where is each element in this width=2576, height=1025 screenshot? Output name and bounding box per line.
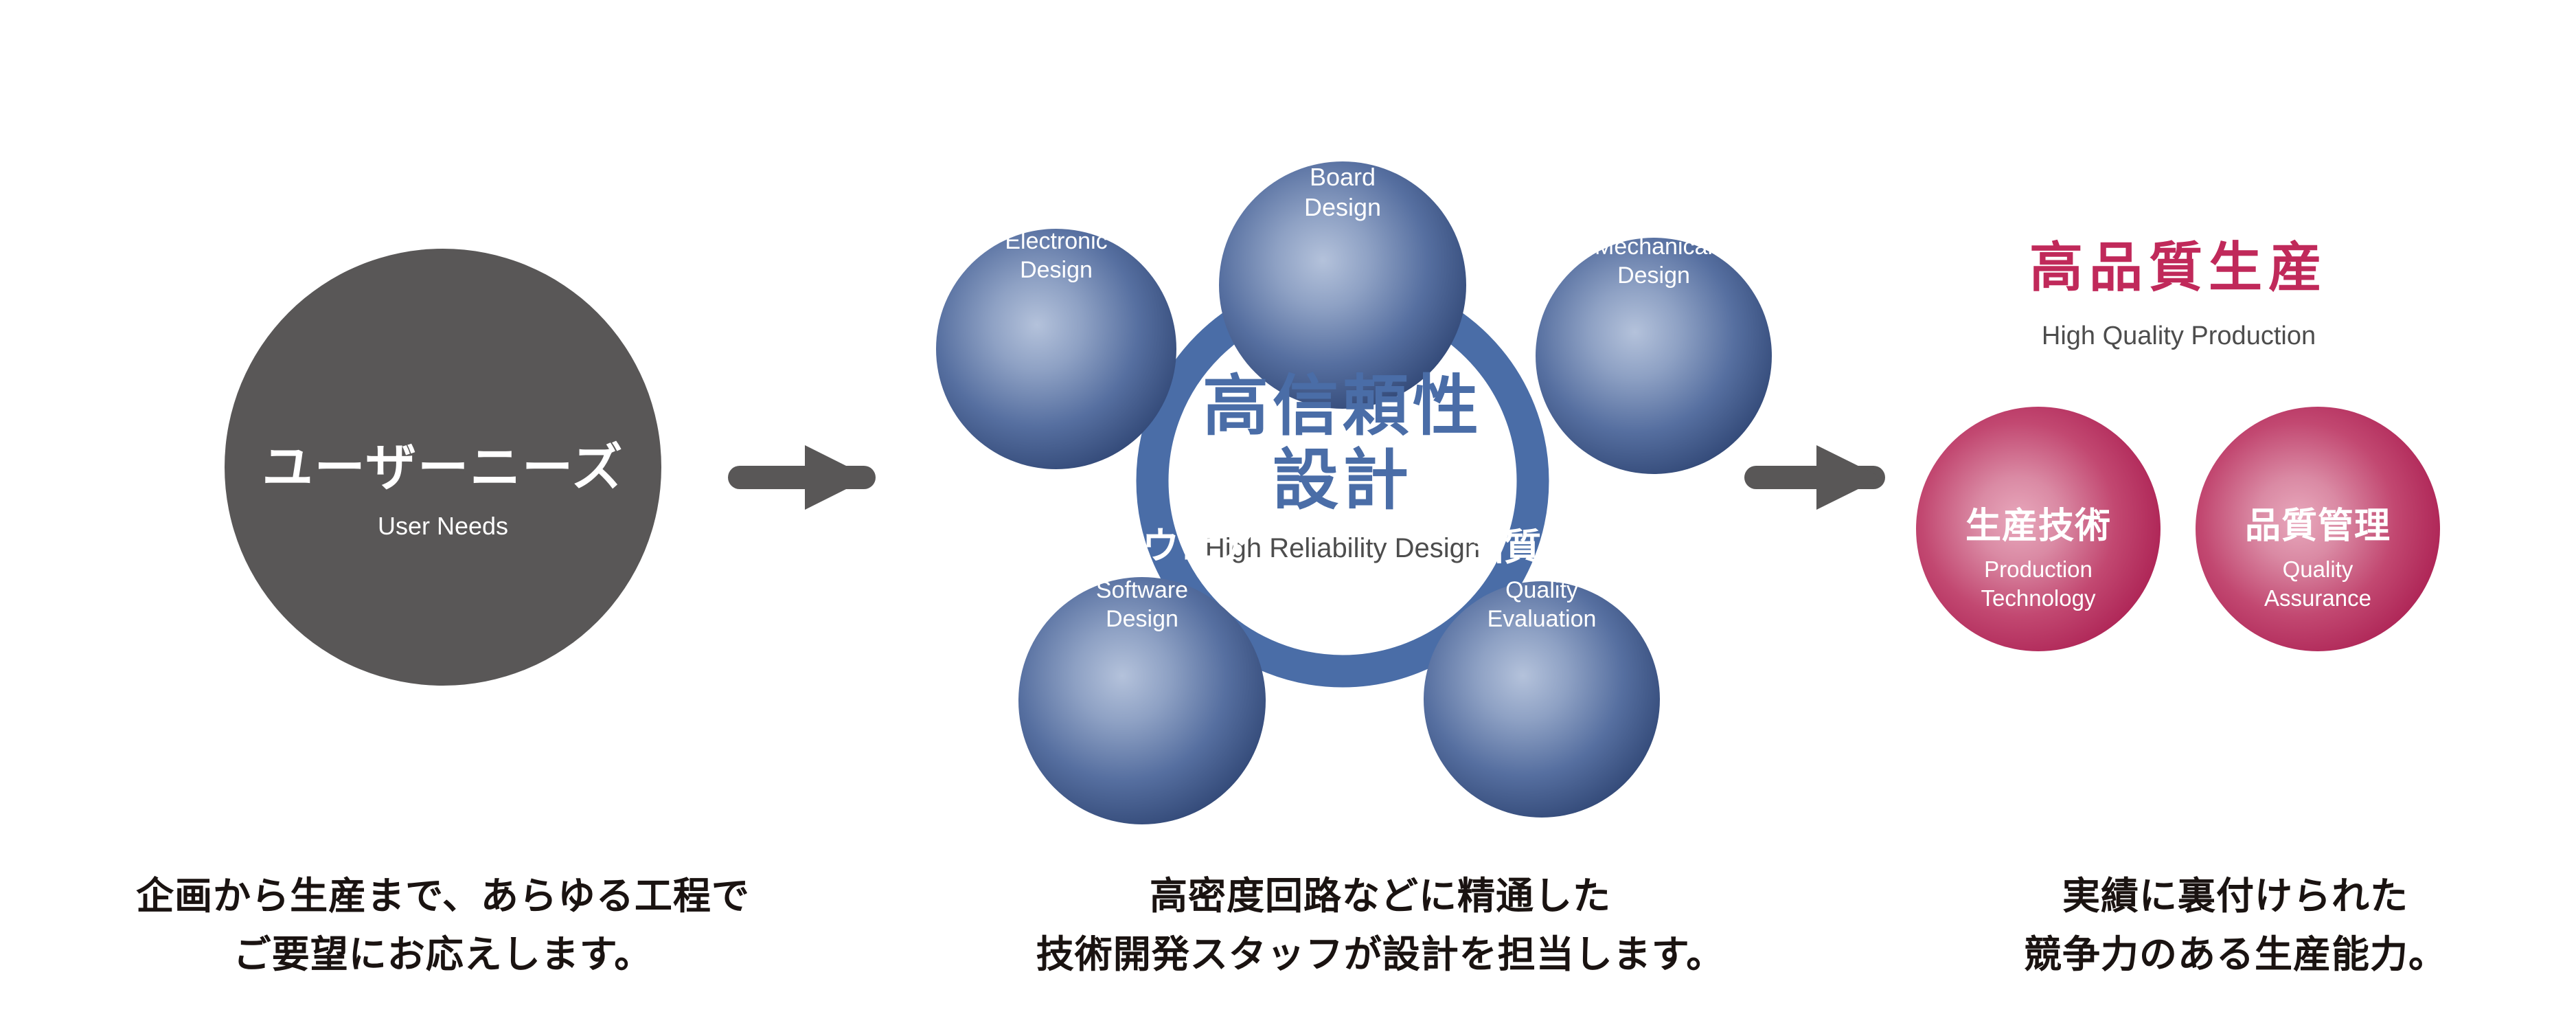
user-needs-en-label: User Needs bbox=[0, 514, 886, 539]
node-label-quality-evaluation-jp: 品質評価 bbox=[1398, 529, 1686, 566]
node-label-electronic-design-en2: Design bbox=[912, 257, 1200, 283]
node-label-board-design-jp: 基板設計 bbox=[1205, 111, 1480, 151]
node-label-electronic-design-en1: Electronic bbox=[912, 228, 1200, 254]
caption-right-line1: 実績に裏付けられた bbox=[1930, 867, 2541, 925]
caption-left-line2: ご要望にお応えします。 bbox=[41, 925, 845, 984]
arrow-2 bbox=[1744, 445, 1885, 510]
caption-right: 実績に裏付けられた 競争力のある生産能力。 bbox=[1930, 867, 2541, 984]
caption-center-line2: 技術開発スタッフが設計を担当します。 bbox=[941, 925, 1820, 984]
node-label-software-design-en2: Design bbox=[984, 606, 1300, 632]
node-label-production-technology-en1: Production bbox=[1894, 556, 2182, 583]
high-quality-production-jp-title: 高品質生産 bbox=[1992, 240, 2366, 294]
caption-right-line2: 競争力のある生産能力。 bbox=[1930, 925, 2541, 984]
caption-center-line1: 高密度回路などに精通した bbox=[941, 867, 1820, 925]
node-label-mechanical-design-en1: Mechanical bbox=[1509, 234, 1798, 260]
node-label-board-design-en2: Design bbox=[1205, 194, 1480, 221]
caption-left: 企画から生産まで、あらゆる工程で ご要望にお応えします。 bbox=[41, 867, 845, 984]
node-label-mechanical-design-jp: 機構設計 bbox=[1509, 185, 1798, 223]
diagram-stage: ユーザーニーズ User Needs 高信頼性 設計 High Reliabil… bbox=[0, 0, 2576, 1025]
node-label-quality-assurance-jp: 品質管理 bbox=[2174, 508, 2462, 544]
high-reliability-jp-line2: 設計 bbox=[1099, 444, 1586, 518]
node-label-production-technology-jp: 生産技術 bbox=[1894, 508, 2182, 544]
user-needs-jp-label: ユーザーニーズ bbox=[0, 442, 886, 493]
high-reliability-jp-line1: 高信頼性 bbox=[1099, 370, 1586, 444]
caption-left-line1: 企画から生産まで、あらゆる工程で bbox=[41, 867, 845, 925]
node-label-quality-assurance-en2: Assurance bbox=[2174, 585, 2462, 611]
node-label-mechanical-design-en2: Design bbox=[1509, 262, 1798, 289]
node-label-quality-evaluation-en1: Quality bbox=[1398, 577, 1686, 603]
node-label-software-design-jp: ソフトウェア bbox=[984, 528, 1300, 565]
node-label-board-design-en1: Board bbox=[1205, 164, 1480, 191]
high-quality-production-en-title: High Quality Production bbox=[1992, 323, 2366, 349]
node-label-quality-assurance-en1: Quality bbox=[2174, 556, 2462, 583]
node-label-electronic-design-jp: 電気設計 bbox=[912, 180, 1200, 217]
node-label-production-technology-en2: Technology bbox=[1894, 585, 2182, 611]
node-label-quality-evaluation-en2: Evaluation bbox=[1398, 606, 1686, 632]
caption-center: 高密度回路などに精通した 技術開発スタッフが設計を担当します。 bbox=[941, 867, 1820, 984]
node-label-software-design-en1: Software bbox=[984, 577, 1300, 603]
